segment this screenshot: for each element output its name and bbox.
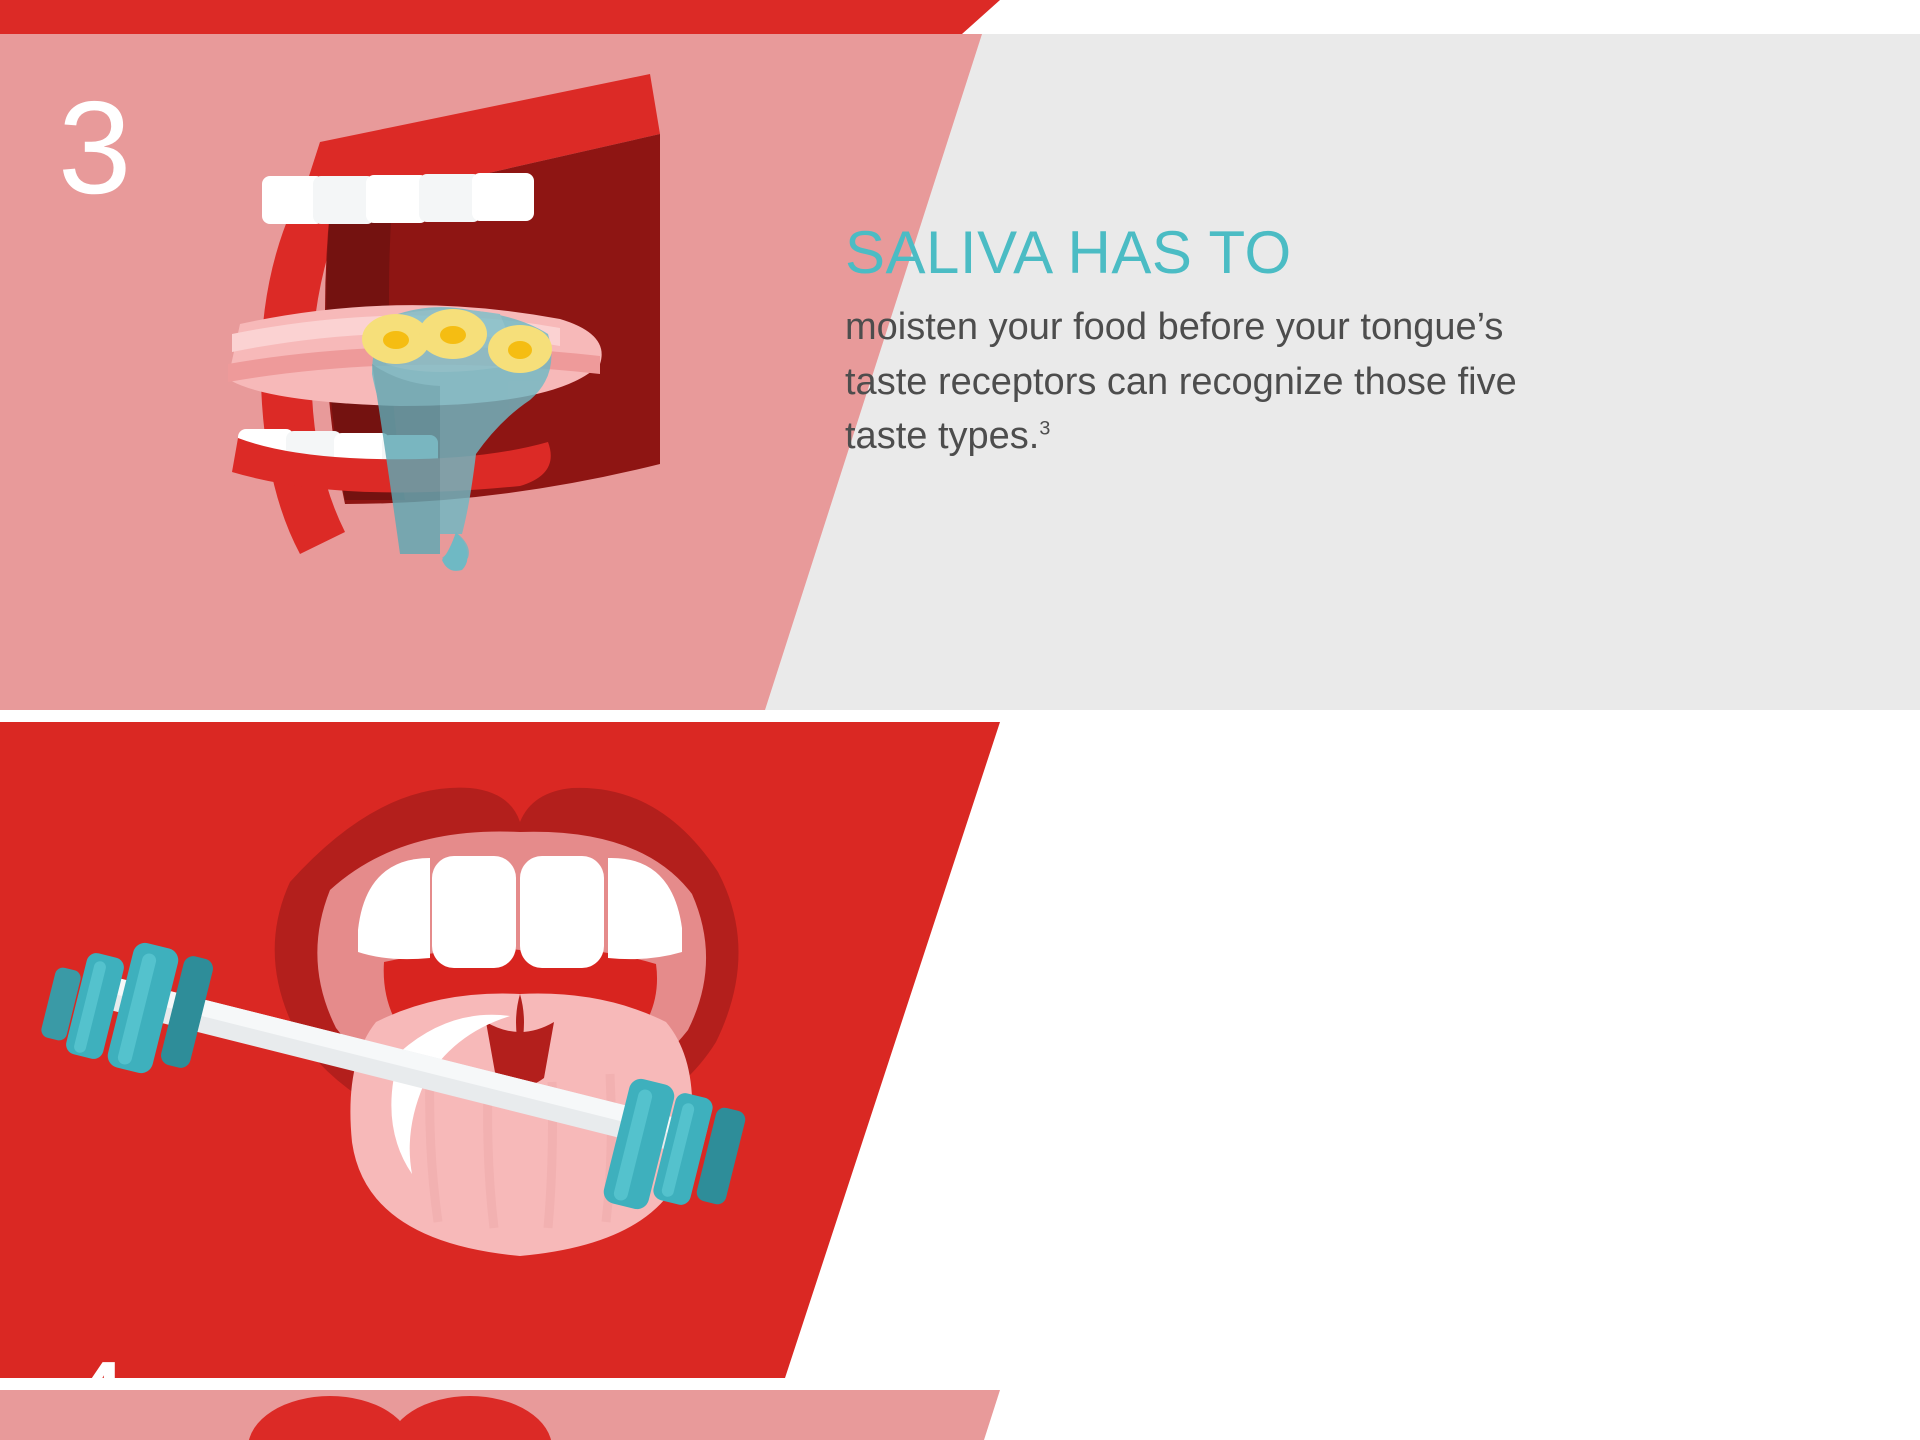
saliva-drop: [442, 532, 468, 571]
panel-muscles: 4 Your tongue is strong and HAS 8 MUSCLE…: [0, 722, 1920, 1378]
panel-saliva-body-text: moisten your food before your tongue’s t…: [845, 306, 1517, 457]
panel-saliva-body: moisten your food before your tongue’s t…: [845, 300, 1585, 464]
panel-saliva-headline: SALIVA HAS TO: [845, 222, 1585, 284]
next-mouth-shape-2: [388, 1396, 552, 1440]
next-mouth-shape: [248, 1396, 412, 1440]
panel-saliva-reference: 3: [1039, 418, 1050, 440]
panel-saliva-text: SALIVA HAS TO moisten your food before y…: [845, 222, 1585, 464]
step-number-3: 3: [58, 82, 131, 214]
panel-next-preview-art: [0, 1390, 1000, 1440]
panel-saliva: 3 SALIVA HAS TO moisten your food before…: [0, 34, 1920, 710]
infographic-page: 3 SALIVA HAS TO moisten your food before…: [0, 0, 1920, 1440]
upper-teeth: [262, 173, 534, 224]
panel-next-preview: [0, 1390, 1000, 1440]
top-red-strip: [0, 0, 1000, 34]
